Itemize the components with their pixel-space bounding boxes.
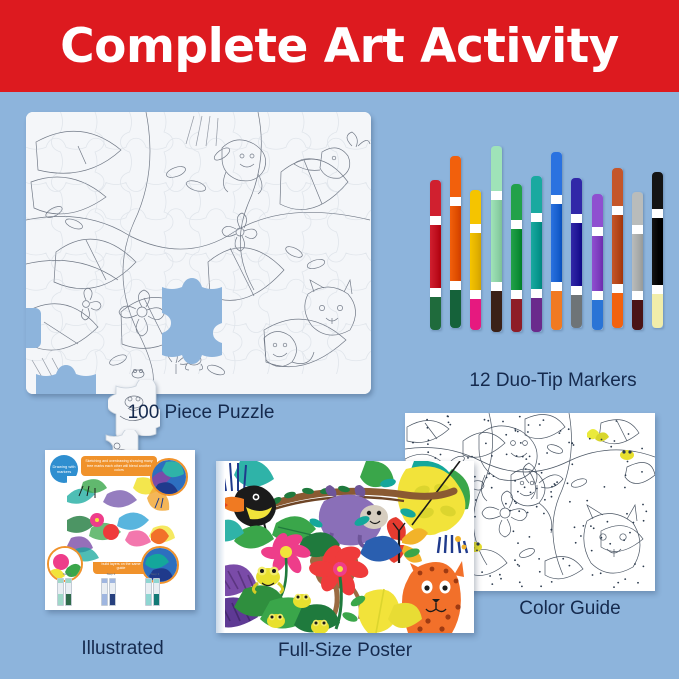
marker-band-bottom [632, 291, 643, 300]
marker-barrel [430, 225, 441, 288]
markers-product [430, 142, 675, 342]
instructions-pen-icon [101, 578, 108, 606]
marker-cap-bottom [612, 293, 623, 328]
marker-12 [652, 172, 663, 328]
instructions-pen-icon [109, 578, 116, 606]
marker-row [430, 142, 675, 342]
instructions-pen-icon [65, 578, 72, 606]
marker-8 [571, 178, 582, 328]
marker-cap-top [531, 176, 542, 213]
marker-barrel [470, 233, 481, 290]
color-guide-caption: Color Guide [480, 598, 660, 620]
marker-band-bottom [612, 284, 623, 293]
marker-cap-bottom [470, 299, 481, 330]
marker-7 [551, 152, 562, 330]
marker-band-bottom [652, 285, 663, 294]
marker-band-bottom [430, 288, 441, 297]
marker-barrel [592, 236, 603, 291]
marker-cap-bottom [511, 299, 522, 332]
marker-band-bottom [470, 290, 481, 299]
poster-artwork [216, 461, 474, 633]
marker-cap-top [551, 152, 562, 195]
marker-band-top [551, 195, 562, 204]
instructions-pen-icon [153, 578, 160, 606]
marker-cap-top [632, 192, 643, 225]
puzzle-board [26, 112, 371, 394]
marker-band-top [531, 213, 542, 222]
poster-caption: Full-Size Poster [230, 640, 460, 662]
marker-band-top [491, 191, 502, 200]
marker-cap-top [571, 178, 582, 214]
marker-band-top [632, 225, 643, 234]
marker-band-bottom [551, 282, 562, 291]
poster-sheet [216, 461, 474, 633]
marker-cap-bottom [531, 298, 542, 332]
marker-cap-bottom [592, 300, 603, 330]
marker-band-top [592, 227, 603, 236]
instructions-pen-icon [145, 578, 152, 606]
marker-cap-bottom [571, 295, 582, 328]
page-title: Complete Art Activity [60, 23, 619, 70]
marker-band-top [652, 209, 663, 218]
marker-band-bottom [571, 286, 582, 295]
marker-3 [470, 190, 481, 330]
marker-barrel [491, 200, 502, 282]
marker-band-bottom [491, 282, 502, 291]
marker-barrel [551, 204, 562, 282]
marker-band-bottom [511, 290, 522, 299]
marker-cap-top [430, 180, 441, 216]
marker-10 [612, 168, 623, 328]
marker-cap-top [491, 146, 502, 191]
instructions-callout-top: Sketching and overdrawing showing many t… [81, 456, 157, 476]
instructions-pen-label: Step 2 [103, 572, 119, 576]
marker-band-bottom [592, 291, 603, 300]
marker-cap-bottom [450, 290, 461, 328]
marker-band-bottom [450, 281, 461, 290]
instructions-inset-topright [150, 458, 188, 496]
instructions-pen-label: Step 3 [147, 572, 163, 576]
instructions-pen-row: Step 1Step 2Step 3 [57, 572, 183, 606]
instructions-caption: Illustrated Instructions [35, 616, 210, 679]
puzzle-caption: 100 Piece Puzzle [86, 402, 316, 424]
markers-caption-line1: 12 Duo-Tip Markers [430, 370, 676, 392]
puzzle-edge-notch [26, 308, 41, 348]
marker-band-top [450, 197, 461, 206]
marker-4 [491, 146, 502, 332]
marker-cap-bottom [491, 291, 502, 332]
marker-barrel [612, 215, 623, 284]
marker-cap-bottom [652, 294, 663, 328]
marker-band-top [470, 224, 481, 233]
marker-band-top [612, 206, 623, 215]
poster-left-edge [216, 461, 225, 633]
marker-1 [430, 180, 441, 330]
marker-5 [511, 184, 522, 332]
marker-band-top [430, 216, 441, 225]
marker-cap-top [612, 168, 623, 206]
marker-11 [632, 192, 643, 330]
marker-cap-bottom [430, 297, 441, 330]
marker-cap-top [511, 184, 522, 220]
marker-barrel [531, 222, 542, 289]
marker-cap-bottom [551, 291, 562, 330]
marker-barrel [450, 206, 461, 281]
marker-barrel [511, 229, 522, 290]
marker-cap-top [652, 172, 663, 209]
puzzle-product: 100 Piece Puzzle [26, 112, 371, 394]
marker-band-bottom [531, 289, 542, 298]
instructions-sheet: Drawing with markers Sketching and overd… [45, 450, 195, 610]
marker-9 [592, 194, 603, 330]
instructions-pen-icon [57, 578, 64, 606]
marker-cap-top [470, 190, 481, 224]
marker-cap-bottom [632, 300, 643, 330]
marker-barrel [652, 218, 663, 285]
product-infographic: Complete Art Activity [0, 0, 679, 679]
marker-band-top [511, 220, 522, 229]
marker-6 [531, 176, 542, 332]
instructions-caption-line1: Illustrated [35, 638, 210, 660]
marker-barrel [632, 234, 643, 291]
puzzle-missing-holes [26, 112, 371, 394]
marker-barrel [571, 223, 582, 286]
header-banner: Complete Art Activity [0, 0, 679, 92]
instructions-pen-label: Step 1 [59, 572, 75, 576]
marker-cap-top [592, 194, 603, 227]
marker-band-top [571, 214, 582, 223]
marker-2 [450, 156, 461, 328]
marker-cap-top [450, 156, 461, 197]
